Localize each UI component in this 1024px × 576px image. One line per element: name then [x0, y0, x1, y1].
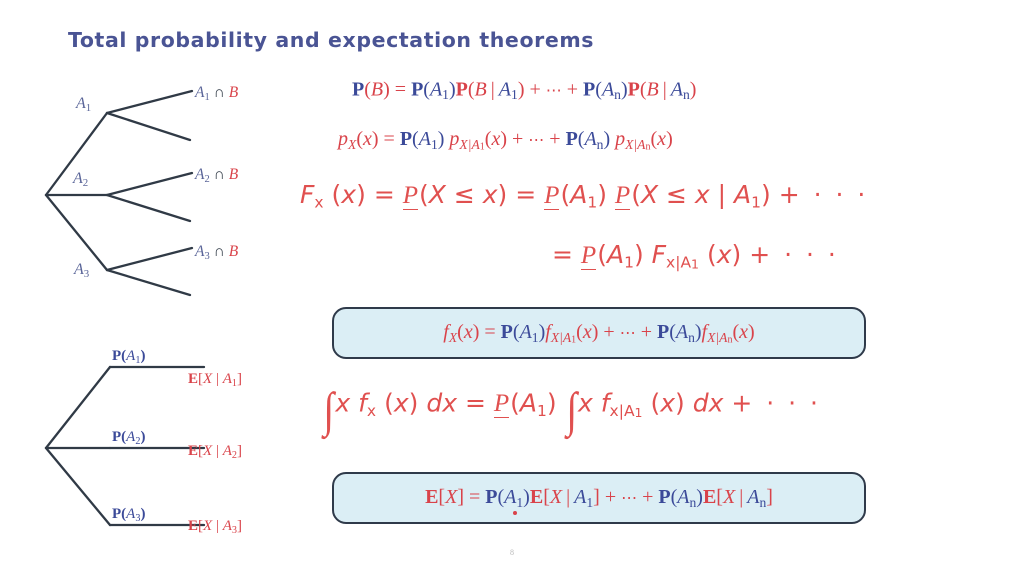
branch-probability-label-1: P(A1) — [112, 348, 145, 366]
boxed-formula-expectation: E[X] = P(A1)E[X | A1] + ⋯ + P(An)E[X | A… — [332, 472, 866, 524]
handwritten-cdf-line-1: Fx (x) = P(X ≤ x) = P(A1) P(X ≤ x | A1) … — [300, 180, 868, 212]
branch-probability-label-2: P(A2) — [112, 429, 145, 447]
tree-node-label-a3: A3 — [74, 261, 89, 280]
partition-tree-graphic — [40, 78, 230, 298]
page-title: Total probability and expectation theore… — [68, 28, 594, 52]
handwritten-cdf-line-2: = P(A1) Fx|A1 (x) + · · · — [552, 240, 839, 272]
boxed-formula-pdf-content: fX(x) = P(A1)fX|A1(x) + ⋯ + P(An)fX|An(x… — [443, 321, 754, 346]
ink-artifact-dot — [513, 511, 517, 515]
branch-expectation-label-2: E[X | A2] — [188, 443, 242, 461]
branch-expectation-label-3: E[X | A3] — [188, 518, 242, 536]
tree-leaf-label-a2-cap-b: A2 ∩ B — [195, 166, 238, 185]
boxed-formula-expectation-content: E[X] = P(A1)E[X | A1] + ⋯ + P(An)E[X | A… — [425, 486, 773, 511]
boxed-formula-pdf: fX(x) = P(A1)fX|A1(x) + ⋯ + P(An)fX|An(x… — [332, 307, 866, 359]
branch-probability-label-3: P(A3) — [112, 506, 145, 524]
tree-leaf-label-a3-cap-b: A3 ∩ B — [195, 243, 238, 262]
tree-node-label-a2: A2 — [73, 170, 88, 189]
slide-canvas: Total probability and expectation theore… — [0, 0, 1024, 576]
branch-expectation-label-1: E[X | A1] — [188, 371, 242, 389]
formula-total-probability: P(B) = P(A1)P(B | A1) + ⋯ + P(An)P(B | A… — [352, 78, 696, 103]
handwritten-integral-line: ∫x fx (x) dx = P(A1) ∫x fx|A1 (x) dx + ·… — [322, 382, 821, 438]
formula-pmf: pX(x) = P(A1) pX|A1(x) + ⋯ + P(An) pX|An… — [338, 128, 673, 153]
tree-leaf-label-a1-cap-b: A1 ∩ B — [195, 84, 238, 103]
tree-node-label-a1: A1 — [76, 95, 91, 114]
page-number: 8 — [0, 548, 1024, 557]
